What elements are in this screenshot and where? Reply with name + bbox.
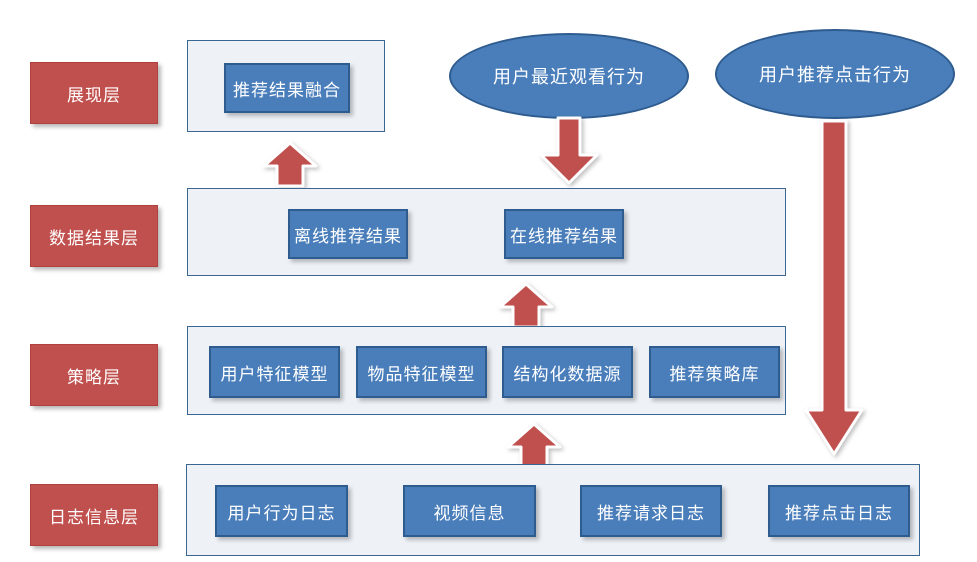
node-user-feature-model[interactable]: 用户特征模型: [209, 346, 340, 398]
layer-panel-log-info: 用户行为日志 视频信息 推荐请求日志 推荐点击日志: [186, 464, 920, 556]
node-user-behavior-log[interactable]: 用户行为日志: [215, 485, 348, 537]
node-user-behavior-log-label: 用户行为日志: [228, 499, 336, 524]
node-recommend-request-log[interactable]: 推荐请求日志: [580, 485, 722, 537]
node-recommend-strategy-library[interactable]: 推荐策略库: [649, 346, 780, 398]
layer-panel-data-result: 离线推荐结果 在线推荐结果: [187, 188, 786, 276]
node-online-recommend-result[interactable]: 在线推荐结果: [504, 209, 624, 259]
ellipse-user-rec-click-behavior[interactable]: 用户推荐点击行为: [715, 29, 955, 119]
node-recommend-click-log[interactable]: 推荐点击日志: [768, 485, 910, 537]
node-user-feature-model-label: 用户特征模型: [221, 360, 329, 385]
up-arrow-to-presentation: [261, 140, 319, 188]
layer-label-log-info: 日志信息层: [30, 484, 158, 546]
up-arrow-to-strategy: [505, 421, 563, 469]
down-arrow-rec-click-to-log: [800, 118, 868, 458]
node-structured-data-source[interactable]: 结构化数据源: [502, 346, 633, 398]
layer-panel-presentation: 推荐结果融合: [187, 40, 385, 132]
layer-label-log-info-text: 日志信息层: [49, 503, 139, 528]
up-arrow-to-data-result: [497, 281, 555, 329]
layer-label-strategy: 策略层: [30, 344, 158, 406]
layer-label-data-result-text: 数据结果层: [49, 224, 139, 249]
layer-label-data-result: 数据结果层: [30, 205, 158, 267]
node-item-feature-model[interactable]: 物品特征模型: [356, 346, 487, 398]
node-item-feature-model-label: 物品特征模型: [368, 360, 476, 385]
node-recommend-result-fusion[interactable]: 推荐结果融合: [224, 63, 350, 113]
node-video-info-label: 视频信息: [434, 499, 506, 524]
layer-label-presentation: 展现层: [30, 62, 158, 124]
node-offline-recommend-result[interactable]: 离线推荐结果: [288, 209, 408, 259]
node-offline-recommend-result-label: 离线推荐结果: [294, 222, 402, 247]
layer-label-presentation-text: 展现层: [67, 81, 121, 106]
node-recommend-result-fusion-label: 推荐结果融合: [233, 76, 341, 101]
layer-label-strategy-text: 策略层: [67, 363, 121, 388]
ellipse-user-rec-click-behavior-label: 用户推荐点击行为: [759, 61, 911, 87]
node-recommend-strategy-library-label: 推荐策略库: [670, 360, 760, 385]
ellipse-user-recent-watch-behavior[interactable]: 用户最近观看行为: [449, 33, 689, 119]
layer-panel-strategy: 用户特征模型 物品特征模型 结构化数据源 推荐策略库: [187, 326, 786, 415]
down-arrow-recent-watch-to-online: [533, 115, 605, 187]
node-video-info[interactable]: 视频信息: [403, 485, 536, 537]
node-online-recommend-result-label: 在线推荐结果: [510, 222, 618, 247]
ellipse-user-recent-watch-behavior-label: 用户最近观看行为: [493, 63, 645, 89]
node-structured-data-source-label: 结构化数据源: [514, 360, 622, 385]
architecture-diagram: 展现层 推荐结果融合 用户最近观看行为 用户推荐点击行为 数据结果层: [0, 0, 977, 562]
node-recommend-request-log-label: 推荐请求日志: [597, 499, 705, 524]
node-recommend-click-log-label: 推荐点击日志: [785, 499, 893, 524]
